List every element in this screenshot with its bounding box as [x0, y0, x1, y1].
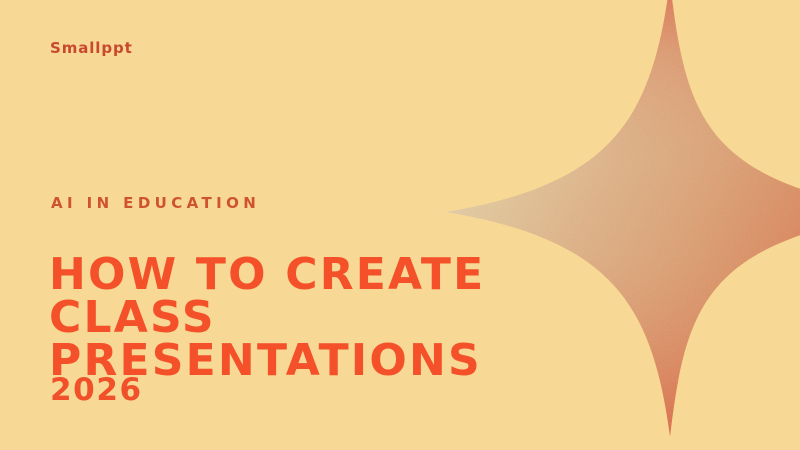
slide-title: HOW TO CREATE CLASS PRESENTATIONS [49, 253, 569, 382]
presentation-slide: Smallppt AI IN EDUCATION HOW TO CREATE C… [0, 0, 800, 450]
slide-title-line-1: HOW TO CREATE [49, 253, 569, 296]
eyebrow-label: AI IN EDUCATION [51, 196, 260, 211]
slide-title-line-2: CLASS [49, 296, 569, 339]
brand-logo[interactable]: Smallppt [50, 41, 133, 56]
sparkle-star-shape [430, 0, 800, 450]
slide-year: 2026 [50, 375, 143, 406]
